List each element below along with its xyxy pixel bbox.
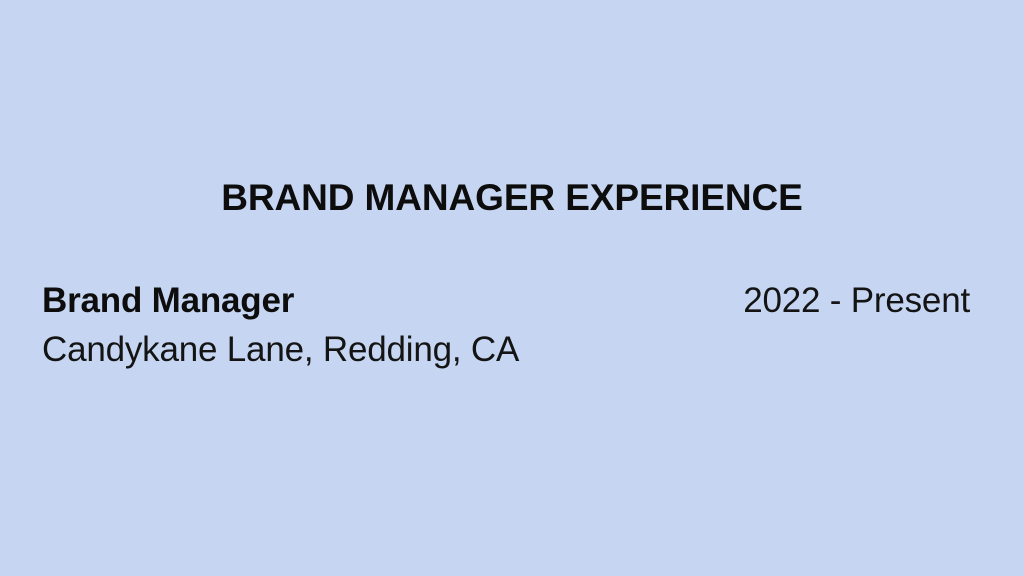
- experience-entry-header: Brand Manager 2022 - Present: [42, 281, 970, 321]
- experience-location: Candykane Lane, Redding, CA: [42, 330, 970, 370]
- experience-entry: Brand Manager 2022 - Present Candykane L…: [42, 281, 970, 370]
- experience-date-range: 2022 - Present: [743, 281, 970, 321]
- experience-job-title: Brand Manager: [42, 281, 294, 321]
- slide-canvas: BRAND MANAGER EXPERIENCE Brand Manager 2…: [0, 0, 1024, 576]
- section-heading: BRAND MANAGER EXPERIENCE: [0, 176, 1024, 220]
